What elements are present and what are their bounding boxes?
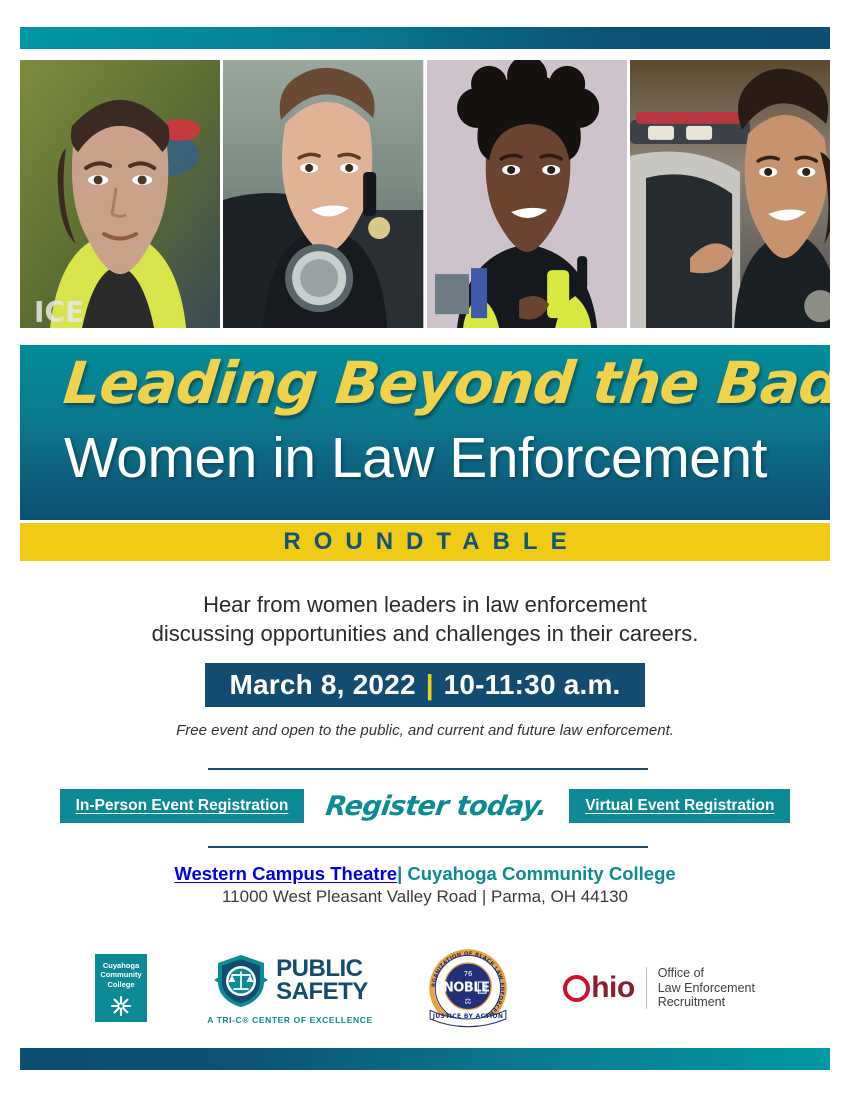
event-date: March 8, 2022 xyxy=(229,669,415,701)
title-main: Women in Law Enforcement xyxy=(64,430,824,487)
virtual-registration-button[interactable]: Virtual Event Registration xyxy=(569,789,790,823)
photo-strip: ICE xyxy=(20,60,830,328)
officer-photo-1: ICE xyxy=(20,60,220,328)
description-line-2: discussing opportunities and challenges … xyxy=(0,619,850,648)
free-event-note: Free event and open to the public, and c… xyxy=(0,722,850,739)
divider-top xyxy=(208,768,648,770)
in-person-registration-label: In-Person Event Registration xyxy=(76,797,289,814)
virtual-registration-label: Virtual Event Registration xyxy=(585,797,774,814)
ohio-divider xyxy=(646,967,647,1009)
ohio-office-line-2: Law Enforcement xyxy=(658,981,755,996)
title-script: Leading Beyond the Badge: xyxy=(61,353,807,414)
venue-link[interactable]: Western Campus Theatre xyxy=(174,863,397,884)
ohio-logo: hio Office of Law Enforcement Recruitmen… xyxy=(563,966,755,1010)
svg-text:JUSTICE BY ACTION: JUSTICE BY ACTION xyxy=(432,1013,504,1020)
venue-address: 11000 West Pleasant Valley Road | Parma,… xyxy=(0,887,850,907)
public-safety-tagline: A TRI-C® CENTER OF EXCELLENCE xyxy=(207,1015,373,1025)
divider-bottom xyxy=(208,846,648,848)
event-time: 10-11:30 a.m. xyxy=(444,669,621,701)
svg-text:ICE: ICE xyxy=(34,296,84,328)
venue-separator: | xyxy=(397,863,402,884)
noble-logo: NATIONAL ORGANIZATION OF BLACK LAW ENFOR… xyxy=(425,945,511,1031)
roundtable-label: ROUNDTABLE xyxy=(270,528,579,556)
shield-scales-icon xyxy=(212,952,270,1010)
register-today-script: Register today. xyxy=(324,791,549,822)
tri-c-line-2: Community xyxy=(100,970,141,979)
public-safety-word-2: SAFETY xyxy=(276,981,368,1003)
public-safety-logo: PUBLIC SAFETY A TRI-C® CENTER OF EXCELLE… xyxy=(207,952,373,1025)
ohio-o-ring-icon xyxy=(563,975,590,1002)
ohio-office-line-1: Office of xyxy=(658,966,755,981)
flyer-page: ICE xyxy=(0,0,850,1100)
description: Hear from women leaders in law enforceme… xyxy=(0,590,850,648)
ohio-wordmark: hio xyxy=(591,971,635,1005)
roundtable-bar: ROUNDTABLE xyxy=(20,523,830,561)
ohio-office-line-3: Recruitment xyxy=(658,995,755,1010)
venue-institution: Cuyahoga Community College xyxy=(407,863,675,884)
snowflake-icon xyxy=(109,994,133,1018)
registration-row: In-Person Event Registration Register to… xyxy=(0,786,850,826)
venue-line: Western Campus Theatre| Cuyahoga Communi… xyxy=(0,862,850,886)
officer-photo-3 xyxy=(427,60,627,328)
tri-c-line-1: Cuyahoga xyxy=(103,961,139,970)
noble-year: 76 xyxy=(464,970,473,978)
svg-text:⚖: ⚖ xyxy=(465,996,472,1005)
tri-c-logo: Cuyahoga Community College xyxy=(95,954,147,1022)
tri-c-line-3: College xyxy=(107,980,134,989)
title-block: Leading Beyond the Badge: Women in Law E… xyxy=(20,345,830,520)
logo-row: Cuyahoga Community College xyxy=(95,938,755,1038)
description-line-1: Hear from women leaders in law enforceme… xyxy=(0,590,850,619)
bottom-gradient-bar xyxy=(20,1048,830,1070)
officer-photo-4 xyxy=(630,60,830,328)
officer-photo-2 xyxy=(223,60,423,328)
date-time-banner: March 8, 2022 | 10-11:30 a.m. xyxy=(205,663,645,707)
in-person-registration-button[interactable]: In-Person Event Registration xyxy=(60,789,305,823)
noble-seal-icon: NATIONAL ORGANIZATION OF BLACK LAW ENFOR… xyxy=(425,945,511,1031)
top-gradient-bar xyxy=(20,27,830,49)
date-time-separator: | xyxy=(426,669,434,701)
